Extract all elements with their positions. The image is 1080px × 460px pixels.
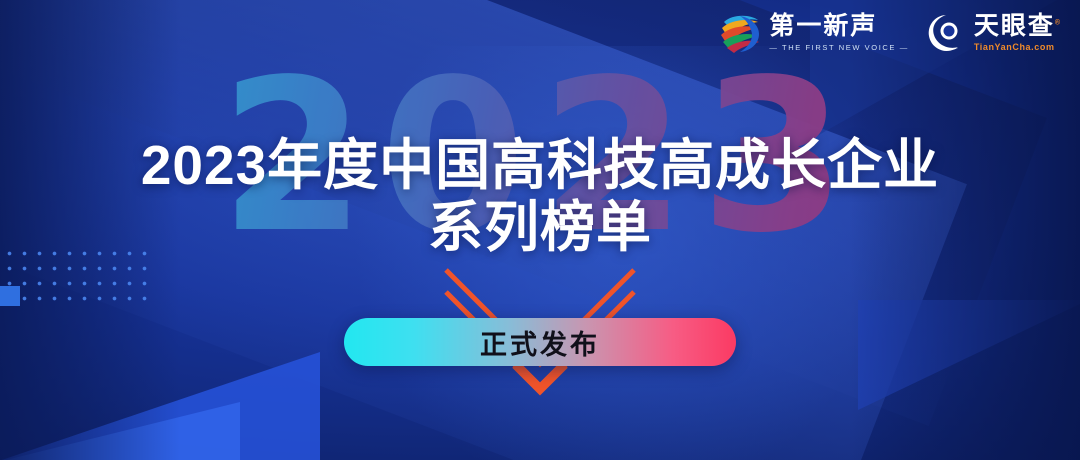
page-title: 2023年度中国高科技高成长企业 系列榜单: [0, 135, 1080, 258]
triangle-bottom-left-inner: [0, 402, 240, 460]
eye-lens-logo-icon: [925, 12, 967, 54]
promo-banner: 2023 2023年度中国高科技高成长企业 系列榜单 正式发布: [0, 0, 1080, 460]
release-cta-button[interactable]: 正式发布: [344, 318, 736, 366]
logo-diyixinsheng[interactable]: 第一新声 — THE FIRST NEW VOICE —: [718, 12, 908, 54]
title-line-primary: 2023年度中国高科技高成长企业: [0, 135, 1080, 197]
triangle-bottom-right: [858, 300, 1080, 410]
title-line-secondary: 系列榜单: [0, 197, 1080, 259]
dot-accent-square: [0, 286, 20, 306]
logo-tianyancha-tagline: TianYanCha.com: [974, 43, 1062, 52]
swoosh-logo-icon: [718, 12, 762, 54]
logo-tianyancha-name: 天眼查®: [974, 14, 1062, 39]
logo-diyixinsheng-tagline: — THE FIRST NEW VOICE —: [769, 44, 908, 52]
logo-tianyancha[interactable]: 天眼查® TianYanCha.com: [925, 12, 1062, 54]
triangle-bottom-left: [0, 352, 320, 460]
trademark-mark: ®: [1055, 20, 1062, 27]
logo-diyixinsheng-text: 第一新声 — THE FIRST NEW VOICE —: [769, 14, 908, 52]
logo-bar: 第一新声 — THE FIRST NEW VOICE — 天眼查® TianYa…: [718, 12, 1062, 54]
logo-diyixinsheng-name: 第一新声: [769, 14, 908, 39]
release-cta-label: 正式发布: [480, 323, 600, 362]
logo-tianyancha-text: 天眼查® TianYanCha.com: [974, 14, 1062, 52]
